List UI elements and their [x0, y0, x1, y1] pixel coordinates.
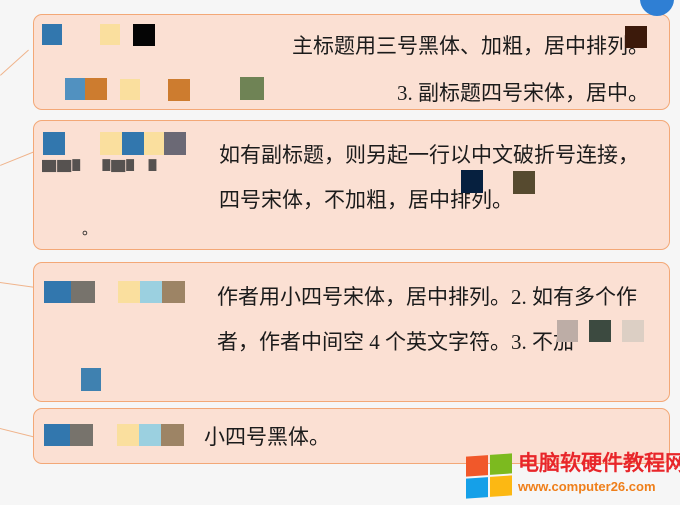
- block-olivebrown-1: [513, 171, 535, 194]
- block-gray-2: [71, 281, 95, 303]
- block-yellow-6: [117, 424, 139, 446]
- block-blue-4: [122, 132, 144, 155]
- block-gray-1: [164, 132, 186, 155]
- watermark-text-group: 电脑软硬件教程网 www.computer26.com: [518, 451, 676, 497]
- node-subtitle-text: 如有副标题，则另起一行以中文破折号连接，四号宋体，不加粗，居中排列。: [219, 133, 659, 223]
- block-darkbrown-1: [625, 26, 647, 48]
- block-orange-3: [168, 79, 190, 101]
- block-yellow-3: [100, 132, 122, 155]
- connector-line-2: [0, 150, 37, 166]
- connector-line-3: [0, 282, 38, 288]
- windows-logo-quadrant-top-left: [466, 455, 488, 477]
- mindmap-canvas: 主标题用三号黑体、加粗，居中排列。 3. 副标题四号宋体，居中。 如有副标题，则…: [0, 0, 680, 505]
- windows-logo-quadrant-top-right: [490, 453, 512, 475]
- block-blue-3: [43, 132, 65, 155]
- block-navy-1: [461, 170, 483, 193]
- connector-line-1: [0, 50, 29, 76]
- windows-logo-quadrant-bottom-left: [466, 477, 488, 499]
- block-tan-1: [162, 281, 185, 303]
- windows-logo-quadrant-bottom-right: [490, 475, 512, 497]
- block-lightblue-1: [140, 281, 162, 303]
- block-olive-1: [240, 77, 264, 100]
- watermark-site-url: www.computer26.com: [518, 477, 676, 497]
- block-yellow-1: [100, 24, 120, 45]
- watermark-site-name: 电脑软硬件教程网: [518, 451, 676, 477]
- windows-logo-icon: [466, 453, 512, 498]
- block-blue-1: [42, 24, 62, 45]
- block-yellow-2: [120, 79, 140, 100]
- block-blue-5: [44, 281, 71, 303]
- block-black-1: [133, 24, 155, 46]
- block-gray-3: [70, 424, 93, 446]
- block-beige-1: [622, 320, 644, 342]
- node-subtitle-tail-text: 。: [82, 219, 97, 241]
- block-darkgreen-1: [589, 320, 611, 342]
- block-tan-2: [161, 424, 184, 446]
- block-orange-2: [85, 78, 107, 100]
- block-mauve-1: [557, 320, 578, 342]
- block-blue-7: [44, 424, 70, 446]
- block-yellow-4: [144, 132, 164, 155]
- site-watermark: 电脑软硬件教程网 www.computer26.com: [466, 449, 678, 503]
- block-lightblue-2: [139, 424, 161, 446]
- block-blue-2: [65, 78, 85, 100]
- block-blue-6: [81, 368, 101, 391]
- block-yellow-5: [118, 281, 140, 303]
- connector-line-vertical-spine: [0, 75, 1, 431]
